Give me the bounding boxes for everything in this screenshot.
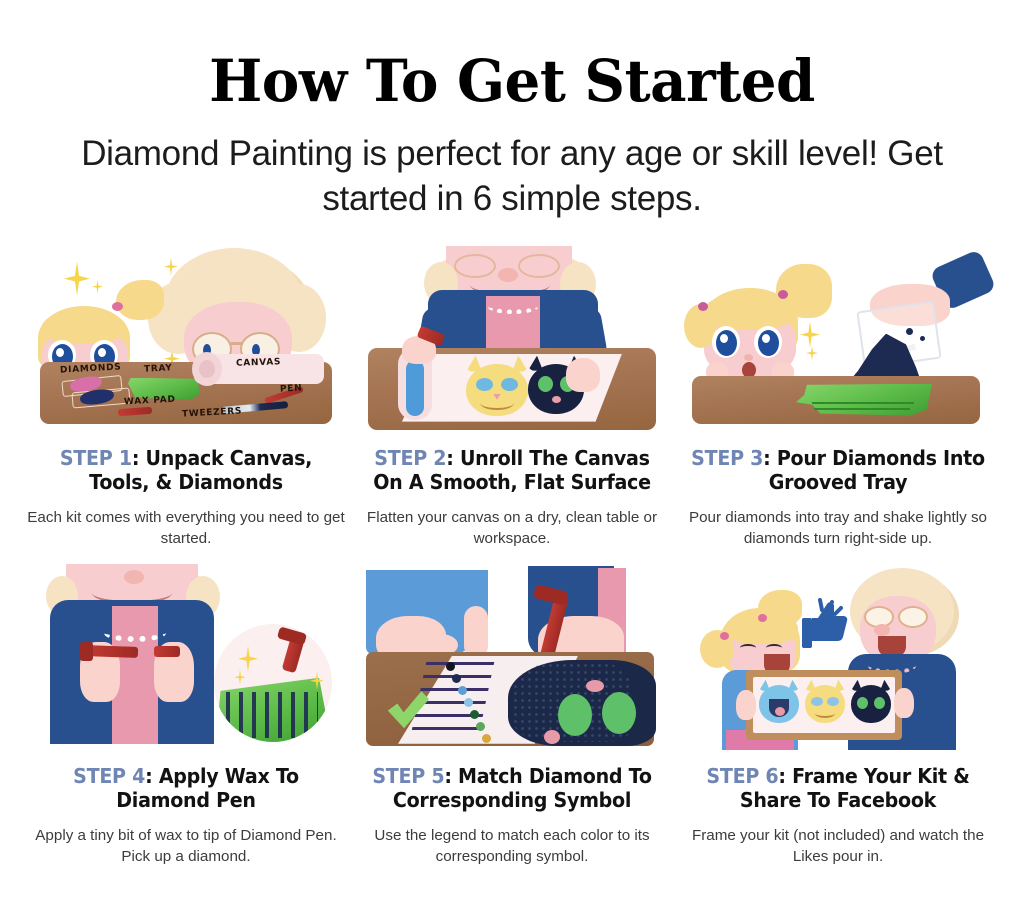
cat-nose bbox=[544, 730, 560, 744]
step-6-number: STEP 6 bbox=[706, 764, 778, 788]
cat-eye bbox=[501, 378, 518, 391]
tray-groove-row bbox=[226, 692, 318, 738]
legend-color-dot bbox=[476, 722, 485, 731]
step-5-separator: : bbox=[444, 764, 458, 788]
cat-tongue bbox=[775, 707, 785, 716]
hand bbox=[736, 690, 756, 720]
legend-color-dot bbox=[452, 674, 461, 683]
pearl-necklace bbox=[488, 300, 538, 314]
step-1-separator: : bbox=[132, 446, 146, 470]
step-6-description: Frame your kit (not included) and watch … bbox=[678, 825, 998, 868]
zoom-inset-circle bbox=[214, 624, 332, 742]
sparkle-icon bbox=[234, 670, 246, 685]
header: How To Get Started Diamond Painting is p… bbox=[0, 0, 1024, 222]
arm bbox=[464, 606, 488, 658]
cat-eye-green bbox=[874, 697, 885, 709]
thumbs-up-icon bbox=[800, 598, 850, 654]
navy-diamond-speck bbox=[920, 336, 925, 341]
step-5-description: Use the legend to match each color to it… bbox=[352, 825, 672, 868]
cat-eye bbox=[811, 697, 823, 706]
step-3-description: Pour diamonds into tray and shake lightl… bbox=[678, 507, 998, 550]
step-5-heading: STEP 5: Match Diamond To Corresponding S… bbox=[363, 764, 661, 812]
cat-eye-green bbox=[857, 697, 868, 709]
wood-label-canvas: CANVAS bbox=[236, 357, 281, 369]
sparkle-icon bbox=[800, 322, 820, 348]
step-3-number: STEP 3 bbox=[691, 446, 763, 470]
navy-diamond-speck bbox=[906, 328, 913, 335]
legend-color-dot bbox=[482, 734, 491, 743]
step-4-number: STEP 4 bbox=[73, 764, 145, 788]
cat-eye-green bbox=[602, 692, 636, 734]
pen-cap bbox=[80, 642, 93, 661]
cat-ear-inner bbox=[586, 680, 604, 692]
hair-tie bbox=[778, 290, 788, 299]
framed-painting bbox=[746, 670, 902, 740]
step-6-illustration bbox=[678, 562, 998, 758]
pearl-necklace bbox=[104, 624, 166, 642]
step-4-separator: : bbox=[145, 764, 159, 788]
girl-pupil bbox=[716, 330, 737, 356]
cat-ear bbox=[834, 680, 845, 691]
closed-eye bbox=[740, 644, 756, 652]
step-4-heading: STEP 4: Apply Wax To Diamond Pen bbox=[37, 764, 335, 812]
girl-pupil bbox=[758, 330, 779, 356]
tray-groove bbox=[812, 402, 914, 404]
cat-ear bbox=[851, 680, 862, 691]
hair-tie bbox=[698, 302, 708, 311]
wood-label-tray: TRAY bbox=[144, 363, 173, 374]
cat-ear bbox=[880, 680, 891, 691]
step-card-2: STEP 2: Unroll The Canvas On A Smooth, F… bbox=[352, 244, 672, 550]
hand bbox=[566, 358, 600, 392]
legend-color-dot bbox=[470, 710, 479, 719]
step-3-title: Pour Diamonds Into Grooved Tray bbox=[769, 446, 985, 494]
girl-bangs bbox=[42, 310, 126, 344]
step-2-illustration bbox=[352, 244, 672, 440]
cat-eye-green bbox=[538, 376, 553, 392]
hair-tie bbox=[112, 302, 123, 311]
cat-ear bbox=[759, 680, 770, 691]
step-card-5: STEP 5: Match Diamond To Corresponding S… bbox=[352, 562, 672, 868]
hair-tie bbox=[758, 614, 767, 622]
pen-cap-inset bbox=[277, 626, 307, 645]
steps-grid: DIAMONDS TRAY WAX PAD CANVAS PEN bbox=[0, 244, 1024, 868]
step-5-illustration bbox=[352, 562, 672, 758]
step-3-heading: STEP 3: Pour Diamonds Into Grooved Tray bbox=[689, 446, 987, 494]
eye-shine bbox=[762, 334, 770, 343]
cat-mouth bbox=[815, 709, 835, 718]
legend-color-dot bbox=[446, 662, 455, 671]
cat-eye bbox=[827, 697, 839, 706]
cat-ear bbox=[805, 680, 816, 691]
cat-nose bbox=[552, 396, 561, 403]
step-card-3: STEP 3: Pour Diamonds Into Grooved Tray … bbox=[678, 244, 998, 550]
eye-shine bbox=[720, 334, 728, 343]
nose bbox=[124, 570, 144, 584]
page-subtitle: Diamond Painting is perfect for any age … bbox=[72, 132, 952, 222]
step-2-number: STEP 2 bbox=[374, 446, 446, 470]
sparkle-icon bbox=[64, 262, 90, 296]
step-card-1: DIAMONDS TRAY WAX PAD CANVAS PEN bbox=[26, 244, 346, 550]
sparkle-icon bbox=[238, 646, 258, 672]
step-1-heading: STEP 1: Unpack Canvas, Tools, & Diamonds bbox=[37, 446, 335, 494]
cat-mouth bbox=[480, 396, 514, 410]
girl-ponytail bbox=[116, 280, 164, 320]
hand bbox=[894, 688, 914, 718]
step-card-6: STEP 6: Frame Your Kit & Share To Facebo… bbox=[678, 562, 998, 868]
step-1-description: Each kit comes with everything you need … bbox=[26, 507, 346, 550]
legend-color-dot bbox=[464, 698, 473, 707]
sparkle-icon bbox=[92, 280, 103, 294]
eye-shine bbox=[56, 348, 64, 357]
step-3-separator: : bbox=[763, 446, 777, 470]
step-4-illustration bbox=[26, 562, 346, 758]
legend-color-dot bbox=[458, 686, 467, 695]
eye-shine bbox=[98, 348, 106, 357]
nose bbox=[874, 624, 890, 636]
canvas-roll-inner bbox=[199, 360, 215, 378]
nose bbox=[744, 354, 753, 361]
cat-eye bbox=[476, 378, 493, 391]
wood-label-wax-pad: WAX PAD bbox=[124, 394, 176, 407]
step-2-heading: STEP 2: Unroll The Canvas On A Smooth, F… bbox=[363, 446, 661, 494]
closed-eye bbox=[766, 644, 782, 652]
infographic-page: How To Get Started Diamond Painting is p… bbox=[0, 0, 1024, 922]
glasses-bridge bbox=[231, 342, 242, 345]
step-4-description: Apply a tiny bit of wax to tip of Diamon… bbox=[26, 825, 346, 868]
cat-ear bbox=[788, 680, 799, 691]
page-title: How To Get Started bbox=[15, 52, 1008, 110]
step-5-number: STEP 5 bbox=[372, 764, 444, 788]
step-1-number: STEP 1 bbox=[60, 446, 132, 470]
step-1-illustration: DIAMONDS TRAY WAX PAD CANVAS PEN bbox=[26, 244, 346, 440]
step-6-heading: STEP 6: Frame Your Kit & Share To Facebo… bbox=[689, 764, 987, 812]
hair-tie bbox=[720, 632, 729, 640]
sparkle-icon bbox=[806, 346, 818, 361]
step-2-separator: : bbox=[446, 446, 460, 470]
canvas-roll-blue-lining bbox=[406, 360, 424, 416]
step-3-illustration bbox=[678, 244, 998, 440]
tray-groove bbox=[814, 408, 910, 410]
step-card-4: STEP 4: Apply Wax To Diamond Pen Apply a… bbox=[26, 562, 346, 868]
step-6-separator: : bbox=[778, 764, 792, 788]
diamond-pen-tip bbox=[154, 646, 180, 657]
glasses-icon bbox=[898, 606, 928, 628]
cat-eye-green bbox=[558, 694, 592, 736]
wood-label-pen: PEN bbox=[280, 383, 303, 394]
step-2-description: Flatten your canvas on a dry, clean tabl… bbox=[352, 507, 672, 550]
